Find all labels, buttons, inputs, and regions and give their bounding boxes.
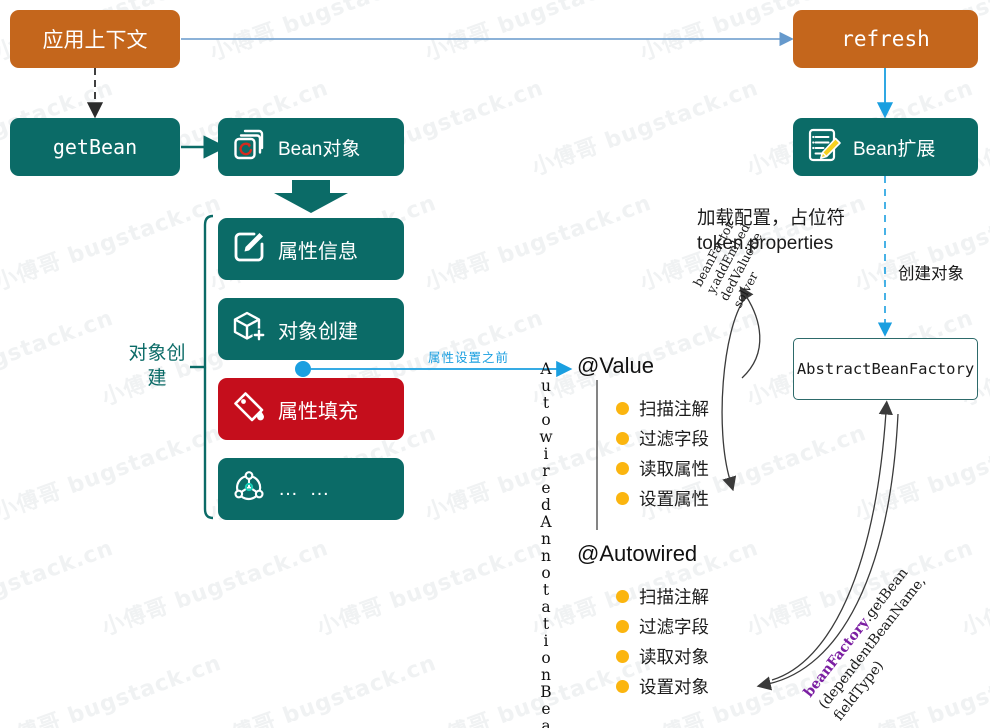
node-property-info-label: 属性信息 — [278, 235, 358, 264]
node-object-create-label: 对象创建 — [278, 315, 358, 344]
node-property-info[interactable]: 属性信息 — [218, 218, 404, 280]
watermark-text: 小傅哥 bugstack.cn — [0, 300, 117, 412]
node-property-fill[interactable]: 属性填充 — [218, 378, 404, 440]
list-item-label: 扫描注解 — [639, 584, 709, 609]
list-item: 设置属性 — [616, 483, 709, 513]
label-autowired-annotation-bean-post-processor: AutowiredAnnotationBeanPostProcessor — [537, 360, 555, 728]
list-item-label: 设置属性 — [639, 486, 709, 511]
edit-square-icon — [232, 230, 266, 269]
node-abstract-bean-factory-label: AbstractBeanFactory — [797, 360, 974, 378]
document-pencil-icon — [805, 126, 843, 169]
node-abstract-bean-factory[interactable]: AbstractBeanFactory — [793, 338, 978, 400]
watermark-text: 小傅哥 bugstack.cn — [527, 70, 763, 182]
layered-refresh-icon — [232, 128, 266, 167]
paint-tag-icon — [232, 390, 266, 429]
list-item-label: 扫描注解 — [639, 396, 709, 421]
list-item-label: 过滤字段 — [639, 614, 709, 639]
network-hub-icon — [232, 470, 266, 509]
list-item: 过滤字段 — [616, 423, 709, 453]
list-item: 扫描注解 — [616, 393, 709, 423]
bullet-dot-icon — [616, 402, 629, 415]
label-get-bean-line2: (dependentBeanName, — [815, 573, 931, 713]
list-item-label: 过滤字段 — [639, 426, 709, 451]
label-get-bean-call: beanFactory.getBean (dependentBeanName, … — [800, 561, 946, 725]
bullet-dot-icon — [616, 620, 629, 633]
list-item-label: 读取属性 — [639, 456, 709, 481]
watermark-text: 小傅哥 bugstack.cn — [97, 530, 333, 642]
bullet-dot-icon — [616, 680, 629, 693]
label-object-create-group: 对象创建 — [122, 341, 192, 391]
node-refresh-label: refresh — [841, 27, 930, 51]
node-bean-object-label: Bean对象 — [278, 134, 360, 161]
node-get-bean[interactable]: getBean — [10, 118, 180, 176]
watermark-text: 小傅哥 bugstack.cn — [419, 185, 655, 297]
watermark-text: 小傅哥 bugstack.cn — [0, 530, 117, 642]
node-bean-extension[interactable]: Bean扩展 — [793, 118, 978, 176]
node-get-bean-label: getBean — [53, 135, 137, 159]
label-create-object: 创建对象 — [898, 260, 964, 284]
node-app-context-label: 应用上下文 — [43, 24, 148, 54]
list-item: 读取属性 — [616, 453, 709, 483]
bullet-dot-icon — [616, 462, 629, 475]
node-bean-extension-label: Bean扩展 — [853, 134, 935, 161]
bullet-dot-icon — [616, 650, 629, 663]
watermark-text: 小傅哥 bugstack.cn — [0, 415, 225, 527]
watermark-text: 小傅哥 bugstack.cn — [204, 0, 440, 67]
cube-plus-icon — [232, 310, 266, 349]
node-app-context[interactable]: 应用上下文 — [10, 10, 180, 68]
node-etcetera-label: … … — [278, 478, 333, 501]
watermark-text: 小傅哥 bugstack.cn — [957, 530, 990, 642]
watermark-text: 小傅哥 bugstack.cn — [849, 415, 990, 527]
node-bean-object[interactable]: Bean对象 — [218, 118, 404, 176]
watermark-text: 小傅哥 bugstack.cn — [312, 530, 548, 642]
watermark-text: 小傅哥 bugstack.cn — [419, 0, 655, 67]
label-before-property-set: 属性设置之前 — [428, 347, 509, 366]
list-item: 扫描注解 — [616, 581, 709, 611]
node-etcetera[interactable]: … … — [218, 458, 404, 520]
watermark-text: 小傅哥 bugstack.cn — [0, 645, 225, 728]
list-item: 设置对象 — [616, 671, 709, 701]
list-item: 过滤字段 — [616, 611, 709, 641]
annotation-title-autowired: @Autowired — [577, 541, 697, 567]
bullet-dot-icon — [616, 432, 629, 445]
watermark-text: 小傅哥 bugstack.cn — [204, 645, 440, 728]
list-item-label: 读取对象 — [639, 644, 709, 669]
list-item: 读取对象 — [616, 641, 709, 671]
annotation-title-value: @Value — [577, 353, 654, 379]
bullet-dot-icon — [616, 492, 629, 505]
diagram-canvas: 小傅哥 bugstack.cn小傅哥 bugstack.cn小傅哥 bugsta… — [0, 0, 990, 728]
list-item-label: 设置对象 — [639, 674, 709, 699]
bullet-dot-icon — [616, 590, 629, 603]
annotation-list-autowired: 扫描注解 过滤字段 读取对象 设置对象 — [616, 581, 709, 701]
watermark-text: 小傅哥 bugstack.cn — [0, 185, 225, 297]
node-object-create[interactable]: 对象创建 — [218, 298, 404, 360]
node-refresh[interactable]: refresh — [793, 10, 978, 68]
annotation-list-value: 扫描注解 过滤字段 读取属性 设置属性 — [616, 393, 709, 513]
node-property-fill-label: 属性填充 — [278, 395, 358, 424]
